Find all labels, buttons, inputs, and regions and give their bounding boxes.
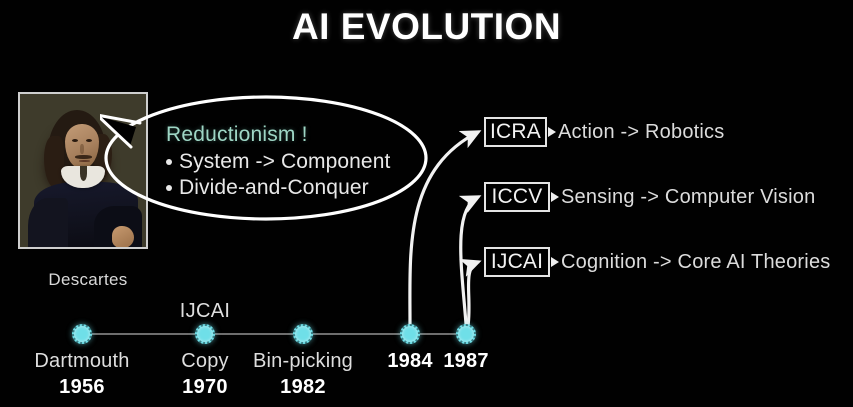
timeline-label-0: Dartmouth xyxy=(34,350,129,373)
speech-bubble-content: Reductionism ! System -> Component Divid… xyxy=(166,123,416,200)
timeline-dot-icon-1970[interactable] xyxy=(195,324,215,344)
timeline-label-4: 1987 xyxy=(443,350,488,373)
timeline-label-1: Copy xyxy=(181,350,229,373)
slide-canvas: AI EVOLUTION Descartes Reductionism ! xyxy=(0,0,853,407)
triangle-right-icon-ijcai xyxy=(551,257,559,267)
portrait-moustache xyxy=(75,155,92,159)
curved-arrow-icon-1984-to-icra xyxy=(410,132,478,324)
conference-box-ijcai[interactable]: IJCAI xyxy=(484,247,550,277)
timeline-above-label: IJCAI xyxy=(180,300,230,323)
portrait-hair-left xyxy=(44,136,64,188)
timeline-dot-icon-1982[interactable] xyxy=(293,324,313,344)
conference-desc-ijcai: Cognition -> Core AI Theories xyxy=(561,251,830,274)
portrait-collar-notch xyxy=(80,166,87,181)
conference-desc-iccv: Sensing -> Computer Vision xyxy=(561,186,815,209)
bubble-bullet-1-label: System -> Component xyxy=(179,150,390,173)
bubble-heading: Reductionism ! xyxy=(166,123,416,147)
bubble-bullet-2: Divide-and-Conquer xyxy=(166,175,416,201)
triangle-right-icon-iccv xyxy=(551,192,559,202)
conference-box-iccv[interactable]: ICCV xyxy=(484,182,550,212)
portrait-eye-right xyxy=(86,139,92,142)
conference-desc-icra: Action -> Robotics xyxy=(558,121,724,144)
portrait-hand xyxy=(112,226,134,248)
timeline-year-1: 1970 xyxy=(182,376,228,399)
bullet-dot-icon xyxy=(166,185,172,191)
bubble-bullet-1: System -> Component xyxy=(166,149,416,175)
timeline-year-2: 1982 xyxy=(280,376,326,399)
portrait-mouth xyxy=(79,160,90,162)
timeline-dot-icon-1987[interactable] xyxy=(456,324,476,344)
timeline-dot-icon-1956[interactable] xyxy=(72,324,92,344)
bullet-dot-icon xyxy=(166,159,172,165)
curved-arrow-icon-1987-to-iccv xyxy=(461,197,478,324)
portrait-nose xyxy=(80,144,84,154)
curved-arrow-icon-1987-to-ijcai xyxy=(468,262,478,326)
conference-box-icra[interactable]: ICRA xyxy=(484,117,547,147)
timeline-label-3: 1984 xyxy=(387,350,432,373)
descartes-portrait xyxy=(18,92,148,249)
timeline-label-2: Bin-picking xyxy=(253,350,353,373)
bubble-bullet-2-label: Divide-and-Conquer xyxy=(179,176,369,199)
page-title: AI EVOLUTION xyxy=(0,6,853,48)
timeline-year-0: 1956 xyxy=(59,376,105,399)
portrait-artwork xyxy=(20,94,146,247)
portrait-shoulder xyxy=(28,198,68,249)
portrait-caption: Descartes xyxy=(18,270,158,290)
portrait-eye-left xyxy=(72,139,78,142)
timeline-dot-icon-1984[interactable] xyxy=(400,324,420,344)
triangle-right-icon-icra xyxy=(548,127,556,137)
